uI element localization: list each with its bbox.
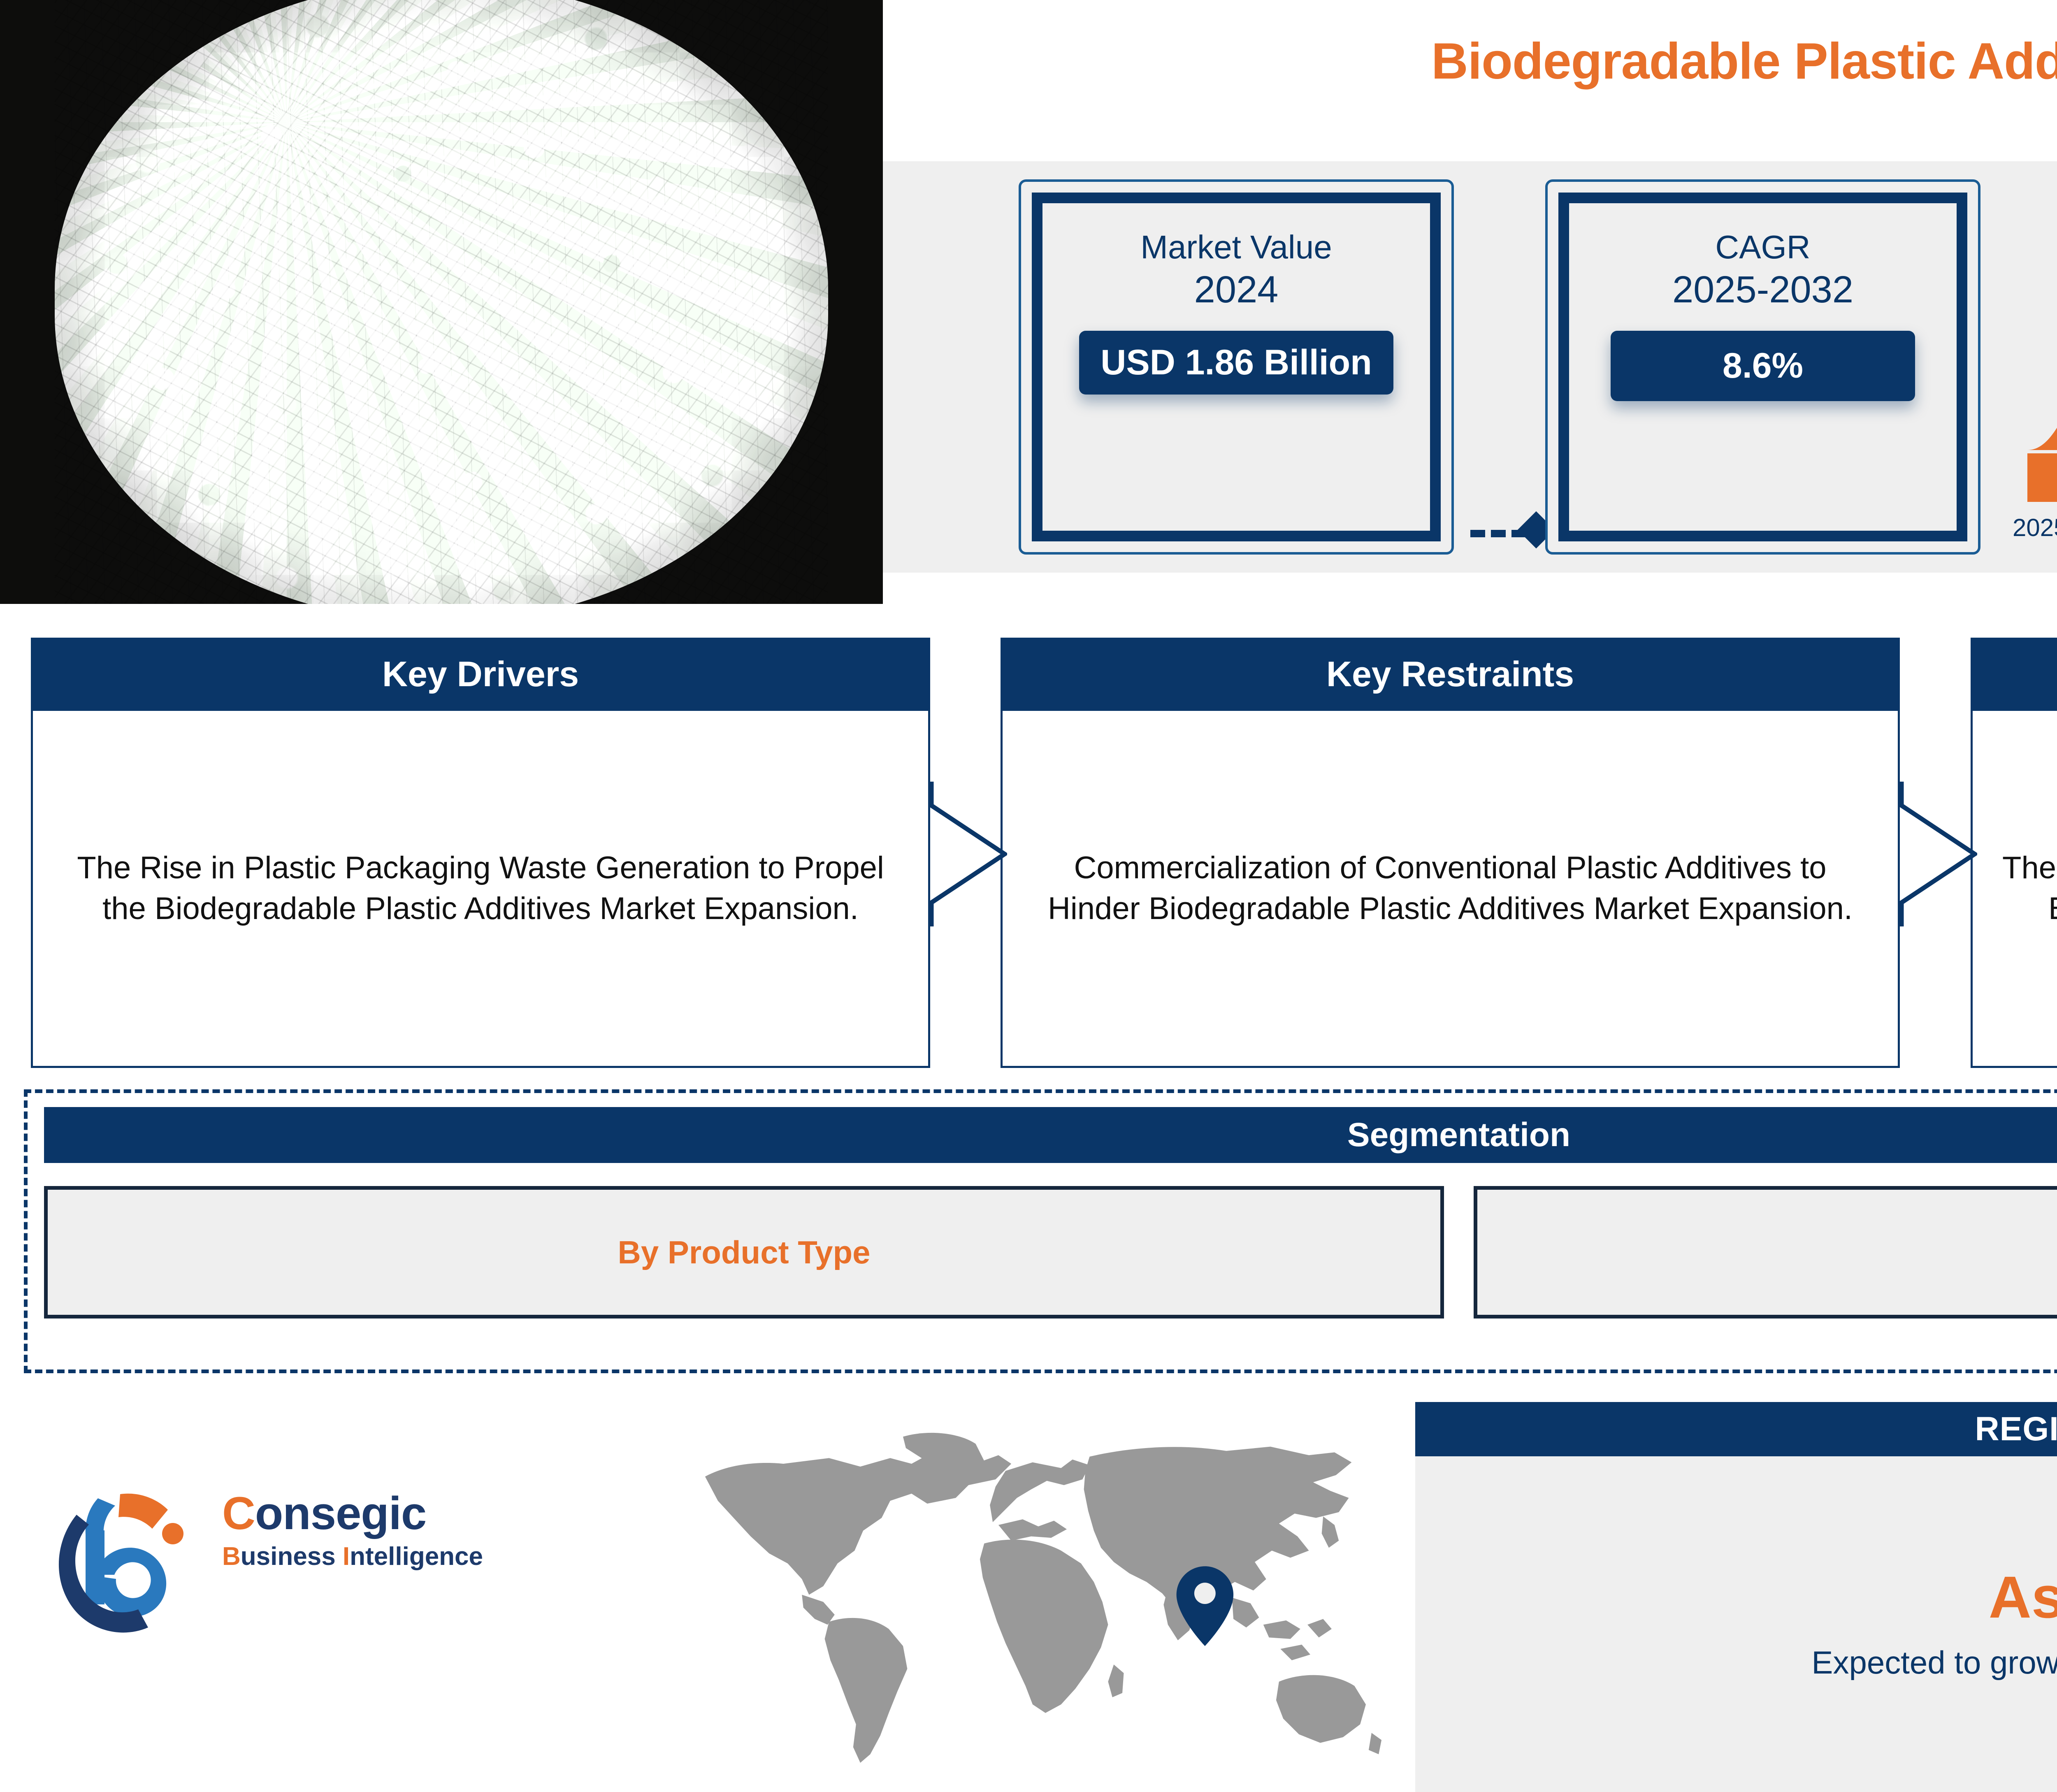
metric-value-pill: 8.6% — [1611, 331, 1915, 401]
logo-c-letter: C — [222, 1488, 255, 1539]
pellet-grain-overlay — [55, 0, 828, 604]
logo-name-rest: onsegic — [255, 1488, 426, 1539]
world-map — [675, 1411, 1391, 1781]
regional-analysis-body: Asia Pacific Expected to grow with the h… — [1415, 1456, 2057, 1792]
logo-company-name: Consegic — [222, 1489, 483, 1538]
logo-i-letter: I — [343, 1542, 350, 1571]
connector-dashed-line-1 — [1470, 530, 1526, 537]
segmentation-title: Segmentation — [44, 1107, 2057, 1163]
panel-title: Future Opportunities — [1971, 638, 2057, 711]
panel-title: Key Restraints — [1001, 638, 1900, 711]
company-logo: Consegic Business Intelligence — [49, 1465, 634, 1637]
logo-b-letter: B — [222, 1542, 241, 1571]
panel-text: The Rise in Plastic Packaging Waste Gene… — [31, 711, 930, 1068]
regional-analysis-heading: REGIONAL ANALYSIS — [1415, 1402, 2057, 1456]
segmentation-boxes: By Product Type By End Use — [44, 1186, 2057, 1318]
growth-chart-icon: CAGR CAGR 8.6% 2025 2032 — [2010, 193, 2057, 546]
metric-label: CAGR — [1715, 227, 1810, 267]
panel-key-drivers: Key Drivers The Rise in Plastic Packagin… — [31, 638, 930, 1068]
metric-card-inner: Market Value 2024 USD 1.86 Billion — [1032, 193, 1441, 541]
logo-tagline: Business Intelligence — [222, 1543, 483, 1571]
metric-card-cagr: CAGR 2025-2032 8.6% — [1545, 179, 1980, 555]
logo-tag-rest2: ntelligence — [350, 1542, 483, 1571]
segmentation-box-product-type[interactable]: By Product Type — [44, 1186, 1444, 1318]
regional-region-name: Asia Pacific — [1989, 1568, 2057, 1627]
metric-card-market-value-2024: Market Value 2024 USD 1.86 Billion — [1019, 179, 1454, 555]
panel-key-restraints: Key Restraints Commercialization of Conv… — [1001, 638, 1900, 1068]
metric-year: 2025-2032 — [1672, 267, 1853, 312]
map-continents — [705, 1433, 1381, 1763]
metric-card-inner: CAGR 2025-2032 8.6% — [1558, 193, 1967, 541]
panel-text: The Rise in the Adoption of Electric Veh… — [1971, 711, 2057, 1068]
growth-bars-svg: CAGR — [2010, 193, 2057, 546]
logo-tag-rest1: usiness — [241, 1542, 343, 1571]
panel-future-opportunities: Future Opportunities The Rise in the Ado… — [1971, 638, 2057, 1068]
metric-value-pill: USD 1.86 Billion — [1079, 331, 1393, 395]
plastic-pellets-photo — [0, 0, 883, 604]
metric-year: 2024 — [1194, 267, 1279, 312]
growth-year-start: 2025 — [2013, 513, 2057, 542]
metric-strip: Market Value 2024 USD 1.86 Billion CAGR … — [883, 161, 2057, 573]
world-map-svg — [675, 1411, 1391, 1781]
chevron-connector-2 — [1899, 782, 1977, 926]
consegic-logo-mark — [49, 1469, 214, 1633]
panel-text: Commercialization of Conventional Plasti… — [1001, 711, 1900, 1068]
segmentation-section: Segmentation By Product Type By End Use — [24, 1089, 2057, 1373]
metric-label: Market Value — [1140, 227, 1332, 267]
regional-subtitle: Expected to grow with the highest CAGR g… — [1811, 1645, 2057, 1681]
logo-wordmark: Consegic Business Intelligence — [222, 1489, 483, 1571]
header-right: Biodegradable Plastic Additives Market M… — [883, 0, 2057, 604]
pellet-mass — [55, 0, 828, 604]
page-title: Biodegradable Plastic Additives Market — [883, 32, 2057, 91]
segmentation-box-end-use[interactable]: By End Use — [1474, 1186, 2057, 1318]
chevron-connector-1 — [929, 782, 1007, 926]
header-band: Biodegradable Plastic Additives Market M… — [0, 0, 2057, 604]
panel-title: Key Drivers — [31, 638, 930, 711]
regional-analysis-section: REGIONAL ANALYSIS Asia Pacific Expected … — [1415, 1402, 2057, 1792]
